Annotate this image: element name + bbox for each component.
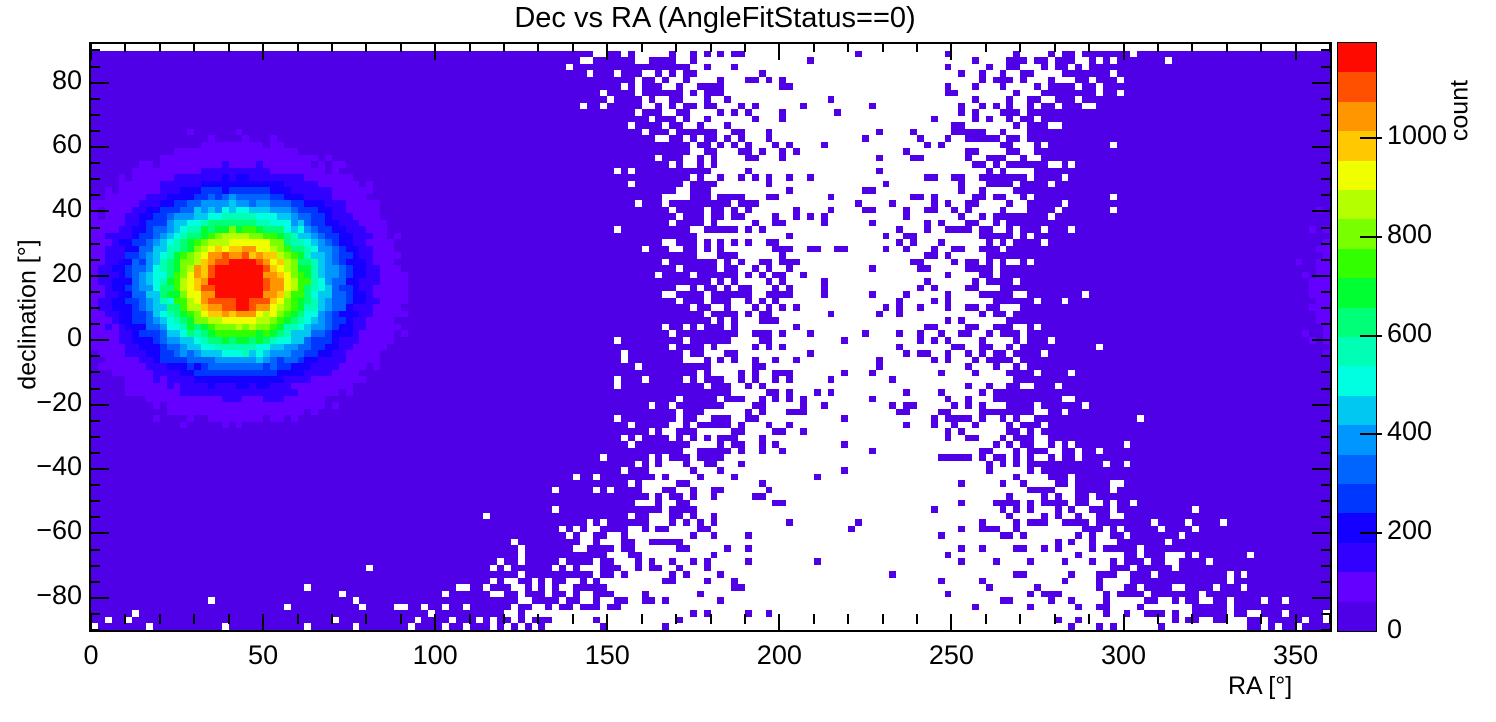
y-tick-minor	[89, 307, 100, 309]
y-tick-major	[89, 597, 109, 599]
y-tick-minor-right	[1321, 371, 1332, 373]
y-tick-minor-right	[1321, 98, 1332, 100]
x-tick-major-top	[262, 42, 264, 60]
x-tick-minor	[1019, 614, 1021, 624]
x-tick-minor-top	[537, 42, 539, 52]
y-tick-minor-right	[1321, 114, 1332, 116]
plot-frame	[89, 42, 1332, 632]
color-bar-tick	[1360, 335, 1382, 337]
y-tick-minor	[89, 98, 100, 100]
x-tick-minor-top	[1329, 42, 1331, 52]
y-tick-label: 20	[52, 258, 82, 289]
y-tick-label: 80	[52, 65, 82, 96]
color-bar-tick-label: 400	[1387, 416, 1432, 447]
y-tick-minor-right	[1321, 243, 1332, 245]
x-tick-label: 350	[1273, 640, 1318, 671]
x-tick-minor-top	[882, 42, 884, 52]
y-tick-major	[89, 210, 109, 212]
y-tick-minor	[89, 516, 100, 518]
y-tick-minor-right	[1321, 581, 1332, 583]
y-tick-minor	[89, 66, 100, 68]
y-tick-minor-right	[1321, 323, 1332, 325]
x-tick-minor	[985, 614, 987, 624]
x-tick-minor	[847, 614, 849, 624]
x-tick-minor-top	[228, 42, 230, 52]
x-tick-minor-top	[813, 42, 815, 52]
color-bar-tick-label: 800	[1387, 219, 1432, 250]
x-tick-minor	[193, 614, 195, 624]
y-tick-major-right	[1312, 339, 1332, 341]
plot-canvas-root: Dec vs RA (AngleFitStatus==0) 806040200−…	[0, 0, 1496, 722]
x-tick-minor	[572, 614, 574, 624]
y-tick-minor	[89, 436, 100, 438]
x-tick-minor-top	[193, 42, 195, 52]
y-tick-minor	[89, 323, 100, 325]
x-tick-minor-top	[331, 42, 333, 52]
y-tick-label: −80	[36, 580, 82, 611]
y-tick-major-right	[1312, 146, 1332, 148]
x-tick-minor-top	[469, 42, 471, 52]
x-tick-minor-top	[641, 42, 643, 52]
x-tick-minor-top	[675, 42, 677, 52]
y-tick-minor	[89, 452, 100, 454]
y-tick-major-right	[1312, 468, 1332, 470]
x-axis-title: RA [°]	[1228, 672, 1292, 701]
x-tick-major-top	[1123, 42, 1125, 60]
y-tick-minor-right	[1321, 629, 1332, 631]
color-bar-tick-label: 200	[1387, 515, 1432, 546]
x-tick-major-top	[778, 42, 780, 60]
y-tick-minor-right	[1321, 484, 1332, 486]
y-tick-minor	[89, 114, 100, 116]
color-bar	[1337, 42, 1377, 632]
y-tick-minor-right	[1321, 420, 1332, 422]
x-tick-minor	[1329, 614, 1331, 624]
color-bar-title: count	[1446, 51, 1475, 171]
y-tick-minor-right	[1321, 291, 1332, 293]
color-bar-tick	[1360, 532, 1382, 534]
y-tick-minor	[89, 130, 100, 132]
x-tick-label: 200	[757, 640, 802, 671]
y-tick-minor-right	[1321, 227, 1332, 229]
x-tick-minor	[1191, 614, 1193, 624]
y-tick-minor-right	[1321, 66, 1332, 68]
x-tick-major	[1295, 614, 1297, 632]
x-tick-minor-top	[1019, 42, 1021, 52]
histogram-2d-canvas	[91, 44, 1330, 630]
x-tick-minor	[297, 614, 299, 624]
x-tick-minor-top	[985, 42, 987, 52]
y-tick-minor	[89, 291, 100, 293]
x-tick-minor-top	[400, 42, 402, 52]
color-bar-tick	[1360, 236, 1382, 238]
y-tick-label: −40	[36, 451, 82, 482]
y-tick-minor-right	[1321, 130, 1332, 132]
x-tick-minor	[331, 614, 333, 624]
x-tick-minor-top	[1226, 42, 1228, 52]
y-tick-major	[89, 468, 109, 470]
y-tick-major	[89, 82, 109, 84]
y-tick-minor	[89, 227, 100, 229]
x-tick-minor-top	[1260, 42, 1262, 52]
x-tick-minor	[1054, 614, 1056, 624]
y-tick-minor-right	[1321, 565, 1332, 567]
y-tick-minor	[89, 259, 100, 261]
y-tick-label: 40	[52, 193, 82, 224]
x-tick-minor-top	[916, 42, 918, 52]
y-tick-label: 0	[67, 322, 82, 353]
y-tick-major-right	[1312, 532, 1332, 534]
x-tick-minor	[641, 614, 643, 624]
x-tick-minor-top	[847, 42, 849, 52]
y-tick-minor-right	[1321, 500, 1332, 502]
x-tick-minor-top	[710, 42, 712, 52]
y-tick-minor	[89, 243, 100, 245]
y-tick-minor-right	[1321, 259, 1332, 261]
y-tick-major	[89, 404, 109, 406]
x-tick-minor-top	[503, 42, 505, 52]
y-tick-minor-right	[1321, 307, 1332, 309]
x-tick-major	[1123, 614, 1125, 632]
x-tick-minor	[503, 614, 505, 624]
y-tick-major	[89, 339, 109, 341]
y-tick-minor	[89, 500, 100, 502]
x-tick-major	[778, 614, 780, 632]
y-tick-minor	[89, 162, 100, 164]
y-tick-minor	[89, 178, 100, 180]
y-tick-minor-right	[1321, 162, 1332, 164]
y-tick-major-right	[1312, 82, 1332, 84]
x-tick-minor-top	[1054, 42, 1056, 52]
y-tick-minor-right	[1321, 436, 1332, 438]
x-tick-minor	[1088, 614, 1090, 624]
x-tick-minor-top	[365, 42, 367, 52]
y-tick-major-right	[1312, 597, 1332, 599]
y-tick-major	[89, 146, 109, 148]
y-tick-minor	[89, 371, 100, 373]
x-tick-minor	[916, 614, 918, 624]
x-tick-minor	[710, 614, 712, 624]
y-tick-minor	[89, 388, 100, 390]
color-bar-tick	[1360, 137, 1382, 139]
y-tick-major	[89, 275, 109, 277]
y-tick-label: −60	[36, 515, 82, 546]
x-tick-minor	[124, 614, 126, 624]
x-tick-major	[950, 614, 952, 632]
y-tick-minor	[89, 565, 100, 567]
x-tick-minor	[1226, 614, 1228, 624]
x-tick-minor-top	[159, 42, 161, 52]
color-bar-tick-label: 0	[1387, 614, 1402, 645]
x-tick-label: 150	[585, 640, 630, 671]
x-tick-major	[606, 614, 608, 632]
y-tick-minor	[89, 581, 100, 583]
y-tick-minor	[89, 549, 100, 551]
x-tick-minor-top	[124, 42, 126, 52]
color-bar-tick-label: 600	[1387, 318, 1432, 349]
x-tick-major	[434, 614, 436, 632]
x-tick-label: 300	[1101, 640, 1146, 671]
color-bar-tick	[1360, 433, 1382, 435]
y-tick-minor-right	[1321, 452, 1332, 454]
x-tick-major-top	[90, 42, 92, 60]
y-tick-major-right	[1312, 404, 1332, 406]
x-tick-label: 250	[929, 640, 974, 671]
x-tick-major-top	[434, 42, 436, 60]
y-tick-minor	[89, 484, 100, 486]
y-tick-major-right	[1312, 210, 1332, 212]
x-tick-minor	[365, 614, 367, 624]
x-tick-major-top	[606, 42, 608, 60]
x-tick-minor	[400, 614, 402, 624]
x-tick-minor-top	[1191, 42, 1193, 52]
x-tick-minor	[1157, 614, 1159, 624]
x-tick-minor	[537, 614, 539, 624]
x-tick-label: 0	[83, 640, 98, 671]
color-bar-canvas	[1338, 43, 1376, 631]
y-tick-minor	[89, 420, 100, 422]
x-tick-minor-top	[1157, 42, 1159, 52]
x-tick-minor	[675, 614, 677, 624]
color-bar-tick-label: 1000	[1387, 120, 1447, 151]
x-tick-minor	[882, 614, 884, 624]
x-tick-label: 50	[248, 640, 278, 671]
y-tick-minor-right	[1321, 194, 1332, 196]
y-tick-minor	[89, 355, 100, 357]
y-tick-minor-right	[1321, 178, 1332, 180]
x-tick-minor-top	[1088, 42, 1090, 52]
x-tick-major	[262, 614, 264, 632]
chart-title: Dec vs RA (AngleFitStatus==0)	[0, 2, 1430, 35]
y-tick-label: 60	[52, 129, 82, 160]
y-tick-minor-right	[1321, 516, 1332, 518]
y-tick-minor-right	[1321, 549, 1332, 551]
x-tick-major-top	[950, 42, 952, 60]
x-tick-minor-top	[572, 42, 574, 52]
y-tick-label: −20	[36, 387, 82, 418]
x-tick-minor-top	[744, 42, 746, 52]
x-tick-minor-top	[297, 42, 299, 52]
x-tick-minor	[469, 614, 471, 624]
x-tick-minor	[813, 614, 815, 624]
x-tick-minor	[1260, 614, 1262, 624]
y-axis-title: declination [°]	[14, 215, 43, 415]
y-tick-minor-right	[1321, 388, 1332, 390]
y-tick-major	[89, 532, 109, 534]
x-tick-minor	[228, 614, 230, 624]
x-tick-minor	[744, 614, 746, 624]
x-tick-major	[90, 614, 92, 632]
y-tick-major-right	[1312, 275, 1332, 277]
x-tick-minor	[159, 614, 161, 624]
y-tick-minor-right	[1321, 355, 1332, 357]
x-tick-label: 100	[413, 640, 458, 671]
y-tick-minor	[89, 194, 100, 196]
x-tick-major-top	[1295, 42, 1297, 60]
